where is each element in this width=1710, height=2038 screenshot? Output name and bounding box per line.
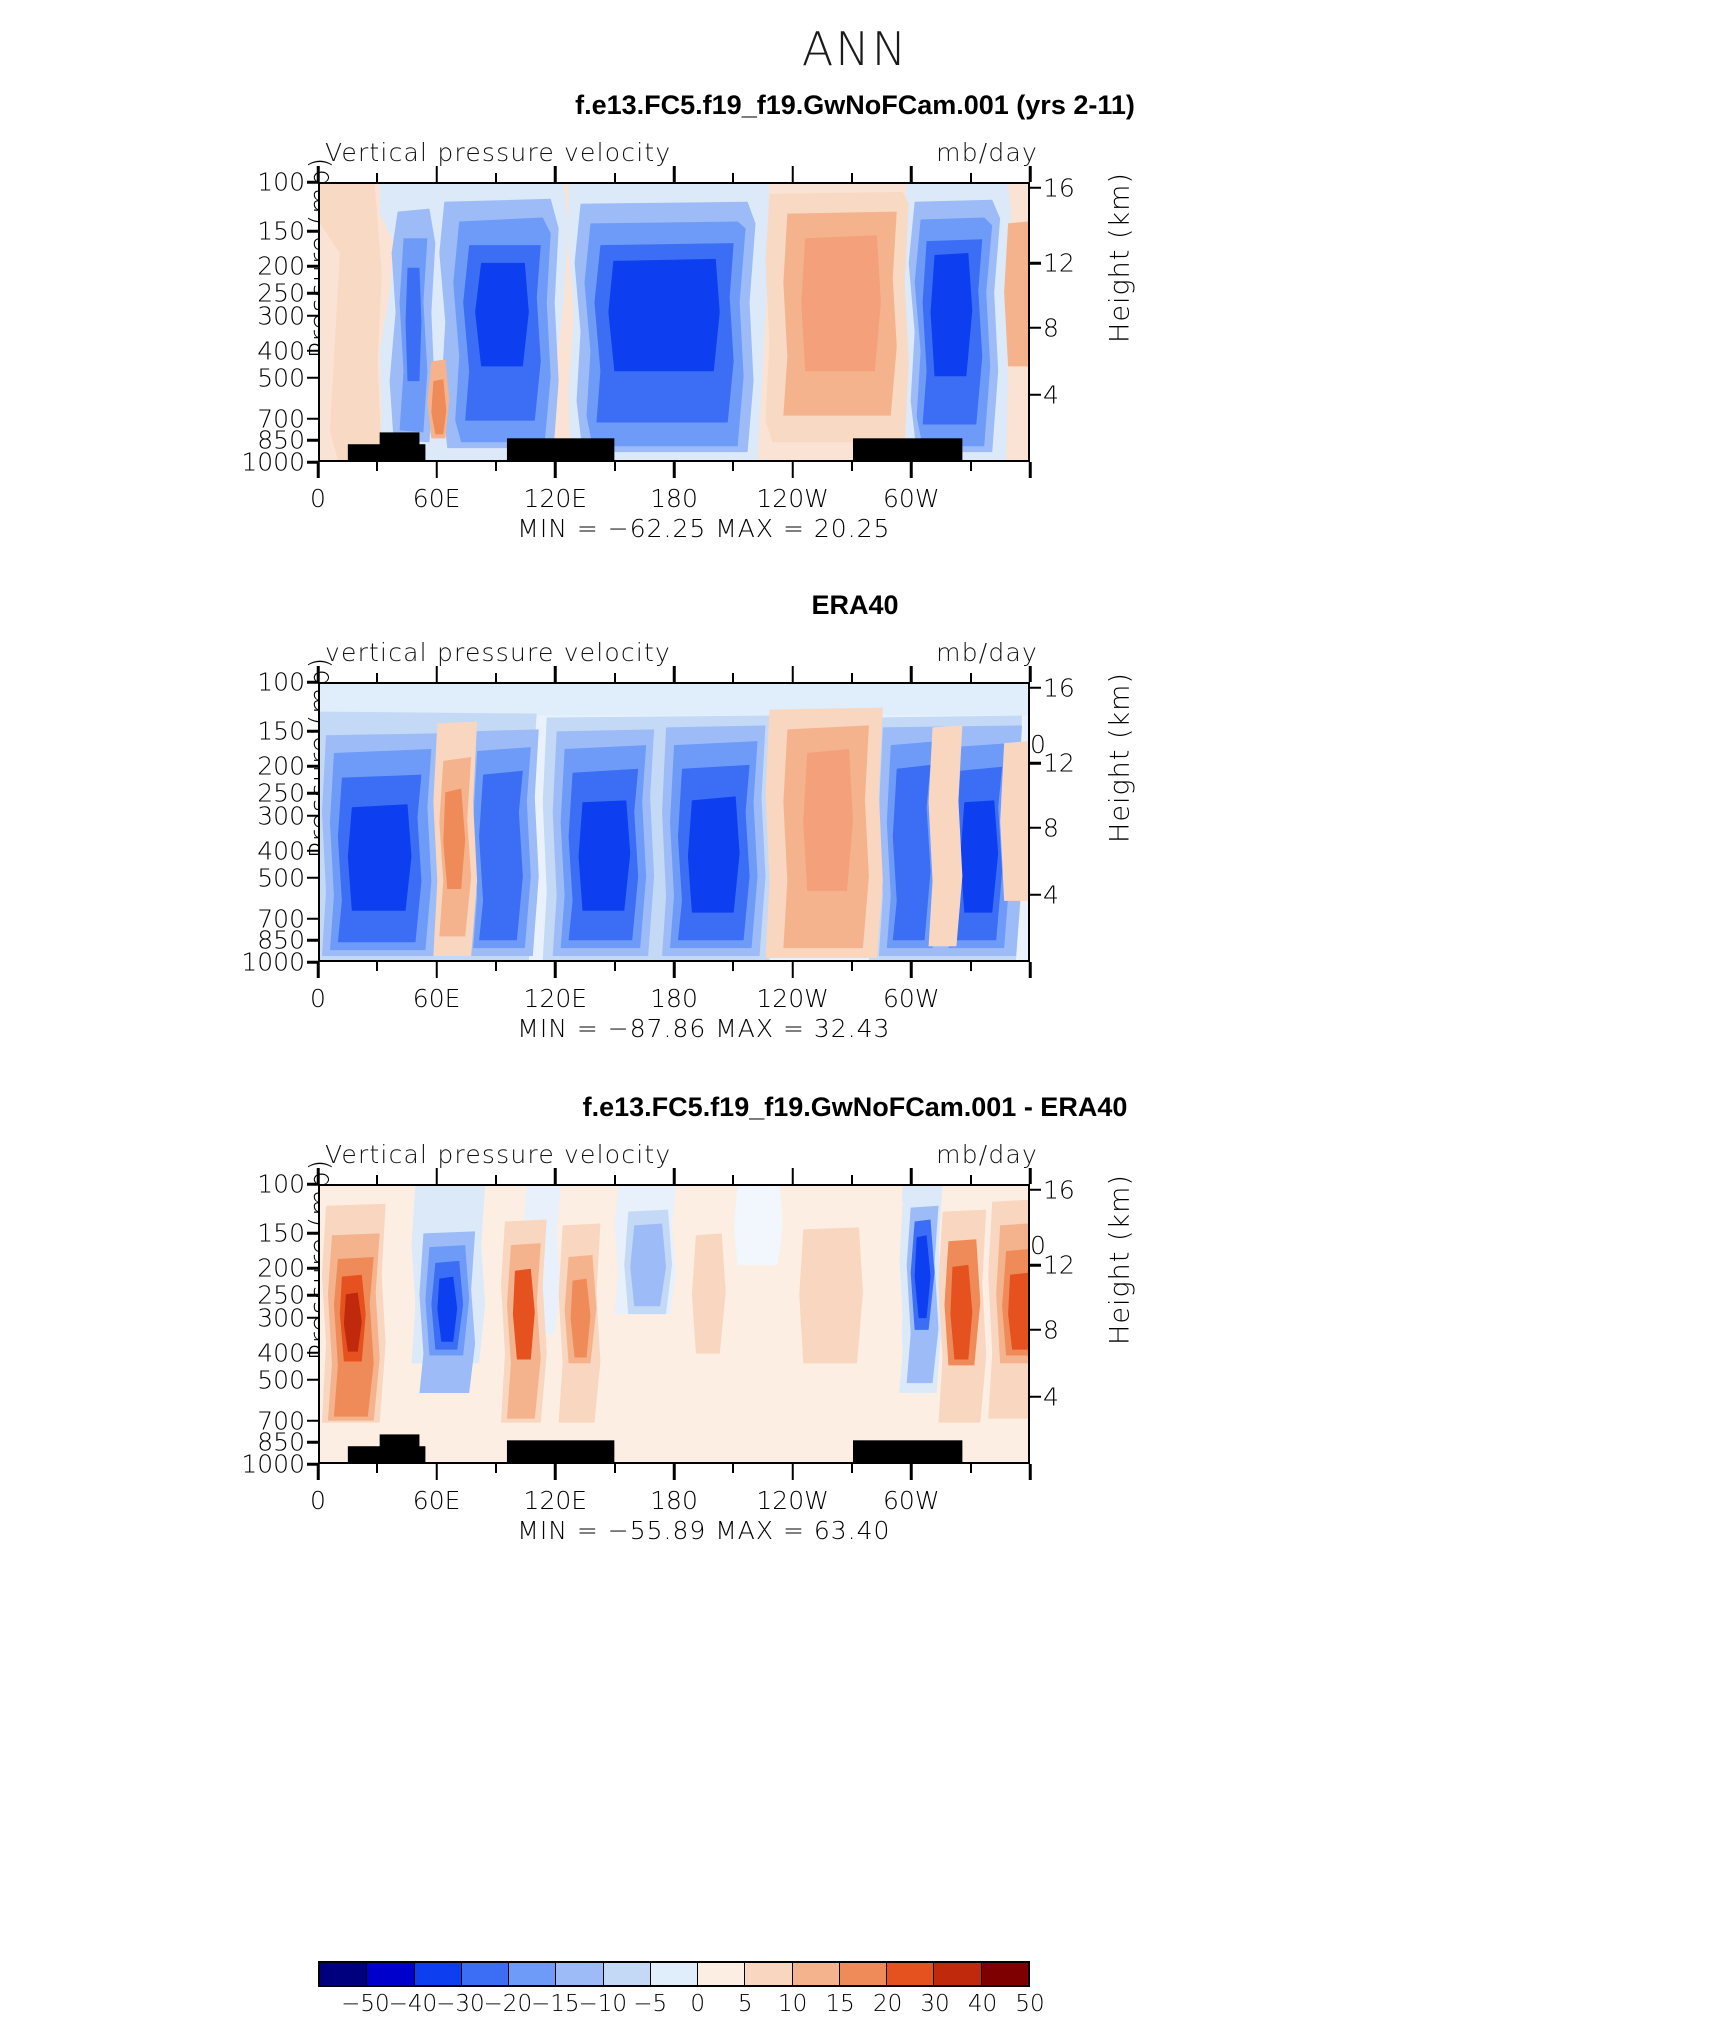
colorbar-tick-label: −15 xyxy=(531,1991,580,2017)
y2-tick-label: 8 xyxy=(1030,813,1059,842)
plot-area-model: Pressure (mb) Height (km) xyxy=(318,182,1030,462)
colorbar-tick-label: 0 xyxy=(690,1991,705,2017)
colorbar-tick-label: 15 xyxy=(825,1991,854,2017)
x-tick-mark-top xyxy=(554,1168,557,1184)
x-tick-mark xyxy=(435,1464,438,1480)
x-tick-mark xyxy=(791,962,794,978)
y2-tick-label: 12 xyxy=(1030,1251,1075,1280)
y-tick-label: 400 xyxy=(257,836,318,865)
plot-area-difference: Pressure (mb) Height (km) xyxy=(318,1184,1030,1464)
min-max-annotation: MIN = −87.86 MAX = 32.43 xyxy=(517,1014,890,1043)
x-tick-mark xyxy=(791,462,794,478)
x-tick-label: 0 xyxy=(310,984,326,1013)
x-tick-mark-top xyxy=(1029,1168,1032,1184)
contour-field xyxy=(320,1186,1028,1462)
y2-tick-label: 12 xyxy=(1030,749,1075,778)
panel-title: ERA40 xyxy=(0,590,1710,621)
x-tick-mark-minor-top xyxy=(851,1175,853,1184)
x-tick-mark-minor-top xyxy=(970,173,972,182)
colorbar-tick-label: 40 xyxy=(968,1991,997,2017)
colorbar-segment xyxy=(887,1963,934,1985)
x-tick-mark-minor xyxy=(495,462,497,471)
x-tick-mark-top xyxy=(910,1168,913,1184)
x-tick-mark-minor xyxy=(376,462,378,471)
x-tick-mark-minor-top xyxy=(495,1175,497,1184)
colorbar-tick-label: 50 xyxy=(1015,1991,1044,2017)
x-tick-mark-minor xyxy=(376,962,378,971)
x-tick-mark-minor xyxy=(851,962,853,971)
colorbar-tick-label: −40 xyxy=(389,1991,438,2017)
contour-field xyxy=(320,684,1028,960)
panel-title: f.e13.FC5.f19_f19.GwNoFCam.001 (yrs 2-11… xyxy=(0,90,1710,121)
colorbar-difference: −50 −40 −30 −20 −15 −10 −5 0 5 10 15 20 … xyxy=(318,1961,1030,2017)
panel-units-label: mb/day xyxy=(936,138,1038,167)
colorbar-segment xyxy=(556,1963,603,1985)
x-tick-mark-top xyxy=(791,666,794,682)
y-tick-label: 1000 xyxy=(241,948,318,977)
x-tick-label: 60E xyxy=(413,1486,461,1515)
colorbar-segment xyxy=(934,1963,981,1985)
x-tick-mark xyxy=(317,1464,320,1480)
x-tick-mark-top xyxy=(673,1168,676,1184)
y-tick-label: 100 xyxy=(257,168,318,197)
x-tick-mark-minor-top xyxy=(495,173,497,182)
y-tick-label: 300 xyxy=(257,301,318,330)
colorbar-segment xyxy=(320,1963,367,1985)
x-tick-mark-minor-top xyxy=(732,173,734,182)
y-tick-label: 150 xyxy=(257,217,318,246)
x-tick-mark-minor-top xyxy=(376,673,378,682)
x-tick-label: 0 xyxy=(310,484,326,513)
colorbar-tick-label: 10 xyxy=(778,1991,807,2017)
x-tick-mark-top xyxy=(554,166,557,182)
x-tick-label: 60E xyxy=(413,984,461,1013)
y-tick-label: 200 xyxy=(257,752,318,781)
colorbar-tick-label: −10 xyxy=(579,1991,628,2017)
x-tick-mark-minor-top xyxy=(732,1175,734,1184)
y2-tick-label: 12 xyxy=(1030,249,1075,278)
x-tick-mark-minor xyxy=(495,962,497,971)
y2-tick-label: 4 xyxy=(1030,380,1059,409)
x-tick-mark-minor-top xyxy=(851,173,853,182)
x-tick-mark-top xyxy=(317,1168,320,1184)
colorbar-segment xyxy=(509,1963,556,1985)
x-tick-label: 180 xyxy=(650,484,698,513)
x-tick-mark-minor-top xyxy=(614,173,616,182)
x-tick-mark xyxy=(910,462,913,478)
x-tick-label: 60W xyxy=(883,1486,940,1515)
x-tick-mark-top xyxy=(1029,666,1032,682)
x-tick-mark-top xyxy=(673,166,676,182)
x-tick-mark-minor xyxy=(614,462,616,471)
x-tick-mark-top xyxy=(317,166,320,182)
x-tick-mark xyxy=(317,462,320,478)
x-tick-mark-minor-top xyxy=(495,673,497,682)
x-tick-mark xyxy=(791,1464,794,1480)
x-tick-mark-minor xyxy=(614,962,616,971)
x-tick-mark-top xyxy=(435,666,438,682)
x-tick-mark-top xyxy=(435,1168,438,1184)
x-tick-label: 120E xyxy=(524,984,588,1013)
panel-units-label: mb/day xyxy=(936,1140,1038,1169)
y-tick-label: 1000 xyxy=(241,448,318,477)
x-tick-mark-minor-top xyxy=(376,1175,378,1184)
y-tick-label: 300 xyxy=(257,801,318,830)
x-tick-mark-minor xyxy=(851,1464,853,1473)
panel-variable-label: vertical pressure velocity xyxy=(325,638,671,667)
x-tick-mark-minor-top xyxy=(970,1175,972,1184)
y2-tick-label: 16 xyxy=(1030,173,1075,202)
x-tick-mark xyxy=(673,1464,676,1480)
y2-tick-label: 4 xyxy=(1030,1382,1059,1411)
colorbar-segment xyxy=(840,1963,887,1985)
panel-title: f.e13.FC5.f19_f19.GwNoFCam.001 - ERA40 xyxy=(0,1092,1710,1123)
y-tick-label: 200 xyxy=(257,252,318,281)
x-tick-mark-minor xyxy=(970,462,972,471)
x-tick-mark xyxy=(1029,1464,1032,1480)
y-tick-label: 500 xyxy=(257,863,318,892)
x-tick-mark-top xyxy=(791,1168,794,1184)
x-tick-mark-minor-top xyxy=(614,1175,616,1184)
x-tick-mark-top xyxy=(910,666,913,682)
plot-area-era40: Pressure (mb) Height (km) xyxy=(318,682,1030,962)
x-tick-mark xyxy=(673,462,676,478)
colorbar-tick-label: −30 xyxy=(436,1991,485,2017)
x-tick-label: 60W xyxy=(883,484,940,513)
figure-root: ANN f.e13.FC5.f19_f19.GwNoFCam.001 (yrs … xyxy=(0,0,1710,2038)
x-tick-mark xyxy=(910,962,913,978)
y-axis-label-right: Height (km) xyxy=(1105,148,1136,368)
x-tick-mark-minor-top xyxy=(376,173,378,182)
colorbar-segment xyxy=(462,1963,509,1985)
colorbar-tick-label: 20 xyxy=(873,1991,902,2017)
colorbar-segment xyxy=(651,1963,698,1985)
x-tick-mark-minor xyxy=(732,1464,734,1473)
y-axis-label-right: Height (km) xyxy=(1105,1150,1136,1370)
colorbar-tick-label: −50 xyxy=(341,1991,390,2017)
x-tick-mark xyxy=(435,962,438,978)
x-tick-mark xyxy=(673,962,676,978)
x-tick-mark-minor xyxy=(970,1464,972,1473)
y-tick-label: 500 xyxy=(257,363,318,392)
x-tick-mark xyxy=(554,962,557,978)
colorbar-segment xyxy=(793,1963,840,1985)
x-tick-mark xyxy=(554,462,557,478)
x-tick-label: 60E xyxy=(413,484,461,513)
x-tick-mark-minor xyxy=(495,1464,497,1473)
x-tick-label: 120W xyxy=(756,484,828,513)
x-tick-mark-top xyxy=(435,166,438,182)
x-tick-mark-minor xyxy=(732,962,734,971)
colorbar-tick-label: −20 xyxy=(484,1991,533,2017)
y-tick-label: 400 xyxy=(257,1338,318,1367)
colorbar-segment xyxy=(415,1963,462,1985)
x-tick-mark-minor-top xyxy=(970,673,972,682)
colorbar-segment xyxy=(604,1963,651,1985)
x-tick-mark-minor-top xyxy=(851,673,853,682)
y-axis-label-right: Height (km) xyxy=(1105,648,1136,868)
plot-frame xyxy=(318,182,1030,462)
x-tick-mark xyxy=(1029,462,1032,478)
x-tick-mark xyxy=(910,1464,913,1480)
x-tick-mark xyxy=(317,962,320,978)
colorbar-strip xyxy=(318,1961,1030,1987)
plot-frame xyxy=(318,682,1030,962)
x-tick-mark-minor-top xyxy=(614,673,616,682)
x-tick-mark-minor xyxy=(614,1464,616,1473)
x-tick-mark-top xyxy=(317,666,320,682)
x-tick-mark-top xyxy=(554,666,557,682)
panel-variable-label: Vertical pressure velocity xyxy=(325,1140,671,1169)
panel-variable-label: Vertical pressure velocity xyxy=(325,138,671,167)
y-tick-label: 1000 xyxy=(241,1450,318,1479)
x-tick-mark xyxy=(435,462,438,478)
y2-tick-label: 8 xyxy=(1030,1315,1059,1344)
x-tick-mark-minor xyxy=(732,462,734,471)
x-tick-label: 120W xyxy=(756,984,828,1013)
y2-tick-label: 16 xyxy=(1030,673,1075,702)
x-tick-mark-top xyxy=(1029,166,1032,182)
min-max-annotation: MIN = −62.25 MAX = 20.25 xyxy=(517,514,890,543)
x-tick-label: 120W xyxy=(756,1486,828,1515)
y-tick-label: 500 xyxy=(257,1365,318,1394)
x-tick-label: 180 xyxy=(650,1486,698,1515)
x-tick-label: 120E xyxy=(524,1486,588,1515)
x-tick-label: 0 xyxy=(310,1486,326,1515)
colorbar-tick-label: 30 xyxy=(920,1991,949,2017)
y2-tick-label: 8 xyxy=(1030,313,1059,342)
x-tick-label: 180 xyxy=(650,984,698,1013)
contour-field xyxy=(320,184,1028,460)
y-tick-label: 300 xyxy=(257,1303,318,1332)
x-tick-label: 120E xyxy=(524,484,588,513)
colorbar-segment xyxy=(745,1963,792,1985)
y2-tick-label: 16 xyxy=(1030,1175,1075,1204)
y-tick-label: 400 xyxy=(257,336,318,365)
figure-main-title: ANN xyxy=(0,22,1710,76)
x-tick-mark xyxy=(1029,962,1032,978)
colorbar-tick-label: −5 xyxy=(633,1991,667,2017)
colorbar-segment xyxy=(982,1963,1028,1985)
y-tick-label: 200 xyxy=(257,1254,318,1283)
plot-frame xyxy=(318,1184,1030,1464)
y-tick-label: 100 xyxy=(257,1170,318,1199)
x-tick-mark-minor xyxy=(851,462,853,471)
x-tick-mark xyxy=(554,1464,557,1480)
colorbar-tick-label: 5 xyxy=(738,1991,753,2017)
y-tick-label: 150 xyxy=(257,717,318,746)
x-tick-mark-minor xyxy=(970,962,972,971)
y-tick-label: 100 xyxy=(257,668,318,697)
min-max-annotation: MIN = −55.89 MAX = 63.40 xyxy=(517,1516,890,1545)
x-tick-label: 60W xyxy=(883,984,940,1013)
panel-units-label: mb/day xyxy=(936,638,1038,667)
x-tick-mark-top xyxy=(673,666,676,682)
x-tick-mark-top xyxy=(910,166,913,182)
colorbar-segment xyxy=(367,1963,414,1985)
y2-tick-label: 4 xyxy=(1030,880,1059,909)
x-tick-mark-minor-top xyxy=(732,673,734,682)
x-tick-mark-top xyxy=(791,166,794,182)
y-tick-label: 150 xyxy=(257,1219,318,1248)
colorbar-segment xyxy=(698,1963,745,1985)
x-tick-mark-minor xyxy=(376,1464,378,1473)
